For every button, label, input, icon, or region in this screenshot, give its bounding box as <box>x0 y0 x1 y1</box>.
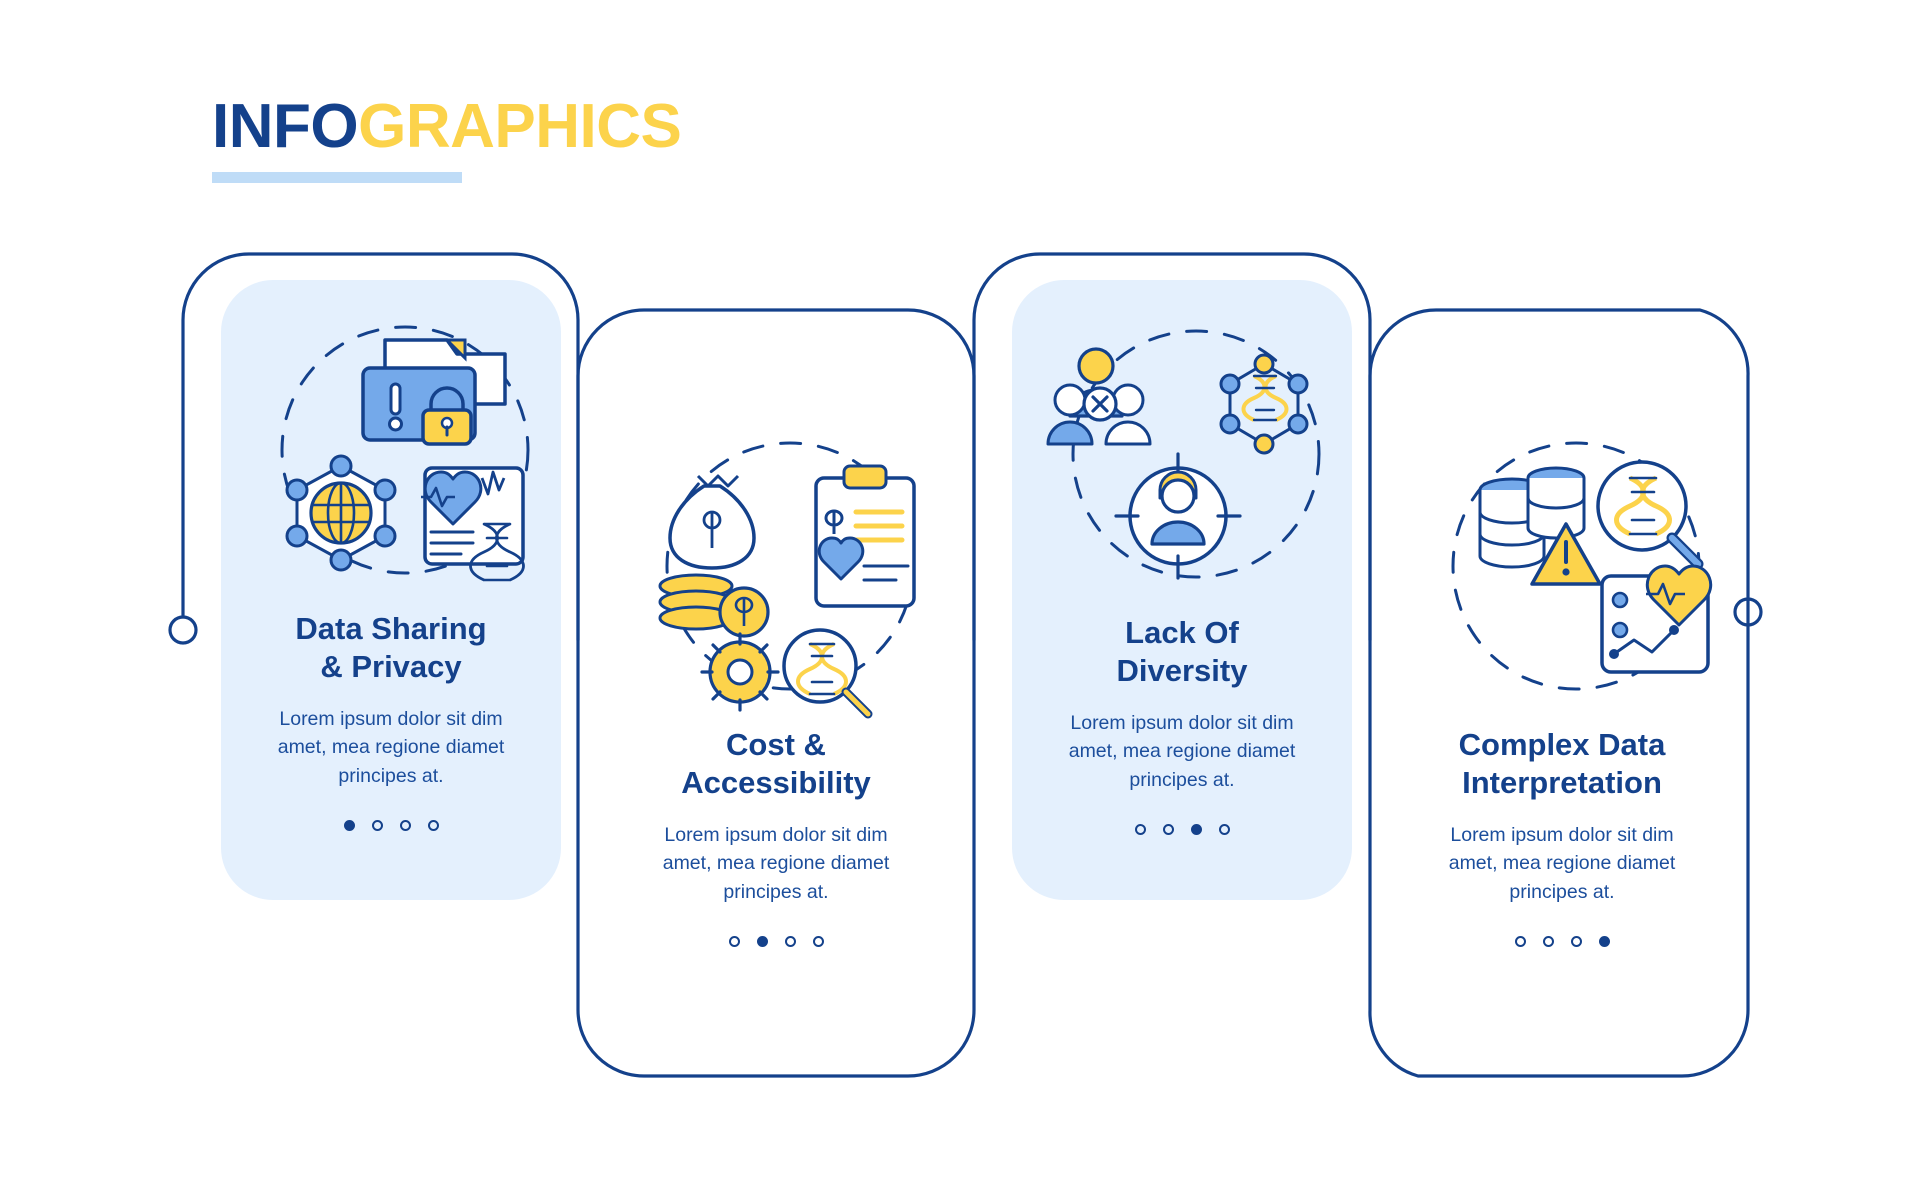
card-3-body: Lorem ipsum dolor sit dim amet, mea regi… <box>1026 709 1338 794</box>
title-underline <box>212 172 462 183</box>
page-title: INFOGRAPHICS <box>212 96 972 158</box>
card-1-title: Data Sharing & Privacy <box>235 610 547 687</box>
card-4-dot-1[interactable] <box>1515 936 1526 947</box>
card-4-pagination-dots[interactable] <box>1406 936 1718 947</box>
card-4-icon-group <box>1406 416 1746 726</box>
card-3-dot-2[interactable] <box>1163 824 1174 835</box>
title-block: INFOGRAPHICS <box>212 96 972 183</box>
dna-magnifier-icon <box>1598 462 1698 564</box>
card-4-title: Complex Data Interpretation <box>1406 726 1718 803</box>
person-target-icon <box>1116 454 1240 578</box>
people-exclusion-icon <box>1048 349 1150 444</box>
card-4-body: Lorem ipsum dolor sit dim amet, mea regi… <box>1406 821 1718 906</box>
card-2-dot-2[interactable] <box>757 936 768 947</box>
card-3-dot-3[interactable] <box>1191 824 1202 835</box>
money-bag-coins-icon <box>660 476 768 636</box>
card-4-dot-4[interactable] <box>1599 936 1610 947</box>
card-2-title: Cost & Accessibility <box>620 726 932 803</box>
database-warning-icon <box>1480 468 1600 584</box>
connector-start-node <box>170 617 196 643</box>
heart-medical-record-icon <box>421 468 524 580</box>
card-2-title-line1: Cost & <box>726 727 826 762</box>
card-2-dot-4[interactable] <box>813 936 824 947</box>
gear-dna-search-icon <box>702 630 868 714</box>
folder-alert-lock-icon <box>363 340 505 444</box>
card-3-pagination-dots[interactable] <box>1026 824 1338 835</box>
card-1-dot-1[interactable] <box>344 820 355 831</box>
card-2-body: Lorem ipsum dolor sit dim amet, mea regi… <box>620 821 932 906</box>
card-2-dot-3[interactable] <box>785 936 796 947</box>
card-3-icon-group <box>1026 304 1366 614</box>
clipboard-dollar-icon <box>816 466 914 606</box>
card-4-title-line2: Interpretation <box>1462 765 1662 800</box>
card-4-dot-2[interactable] <box>1543 936 1554 947</box>
dna-molecule-icon <box>1221 355 1307 453</box>
globe-network-icon <box>287 456 395 570</box>
card-2-dot-1[interactable] <box>729 936 740 947</box>
card-1-icon-group <box>235 300 575 610</box>
card-3-title: Lack Of Diversity <box>1026 614 1338 691</box>
page-title-secondary: GRAPHICS <box>358 92 681 161</box>
infographic-canvas: INFOGRAPHICS <box>0 0 1920 1196</box>
card-1-dot-2[interactable] <box>372 820 383 831</box>
chart-heart-icon <box>1602 566 1711 672</box>
page-title-primary: INFO <box>212 92 358 161</box>
card-2-pagination-dots[interactable] <box>620 936 932 947</box>
card-2-icon-group <box>620 416 960 726</box>
card-4-title-line1: Complex Data <box>1459 727 1666 762</box>
card-1-body: Lorem ipsum dolor sit dim amet, mea regi… <box>235 705 547 790</box>
card-1-dot-4[interactable] <box>428 820 439 831</box>
card-3-title-line2: Diversity <box>1117 653 1248 688</box>
card-4-dot-3[interactable] <box>1571 936 1582 947</box>
card-1-title-line2: & Privacy <box>320 649 461 684</box>
card-2-title-line2: Accessibility <box>681 765 871 800</box>
card-3-title-line1: Lack Of <box>1125 615 1239 650</box>
card-3-dot-1[interactable] <box>1135 824 1146 835</box>
card-1-pagination-dots[interactable] <box>235 820 547 831</box>
card-3-dot-4[interactable] <box>1219 824 1230 835</box>
card-1-title-line1: Data Sharing <box>295 611 486 646</box>
card-1-dot-3[interactable] <box>400 820 411 831</box>
